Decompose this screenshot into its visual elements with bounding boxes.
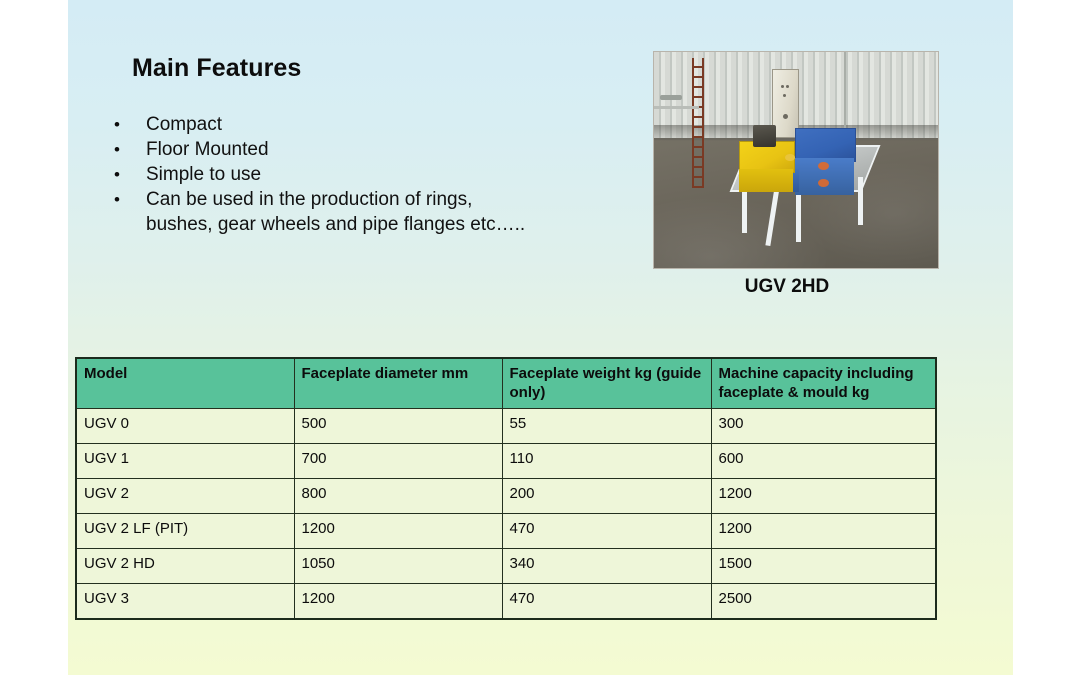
list-item-label: Can be used in the production of rings, … xyxy=(144,187,530,237)
cell-capacity: 2500 xyxy=(711,584,936,620)
table-row: UGV 2 800 200 1200 xyxy=(76,479,936,514)
list-item-label: Compact xyxy=(144,112,222,137)
features-bullet-list: • Compact • Floor Mounted • Simple to us… xyxy=(90,112,530,237)
cell-diameter: 800 xyxy=(294,479,502,514)
cell-model: UGV 1 xyxy=(76,444,294,479)
cell-weight: 470 xyxy=(502,584,711,620)
cell-diameter: 1200 xyxy=(294,514,502,549)
specifications-table: Model Faceplate diameter mm Faceplate we… xyxy=(75,357,937,620)
list-item: • Simple to use xyxy=(90,162,530,187)
product-photo xyxy=(654,52,938,268)
slide-page: Main Features • Compact • Floor Mounted … xyxy=(0,0,1080,675)
list-item: • Can be used in the production of rings… xyxy=(90,187,530,237)
table-row: UGV 1 700 110 600 xyxy=(76,444,936,479)
cell-weight: 200 xyxy=(502,479,711,514)
photo-table-leg xyxy=(858,177,863,225)
photo-decal xyxy=(818,179,829,187)
photo-table-leg xyxy=(796,195,801,243)
cell-weight: 340 xyxy=(502,549,711,584)
cell-diameter: 1200 xyxy=(294,584,502,620)
photo-yellow-hopper-face xyxy=(739,169,793,193)
cell-weight: 110 xyxy=(502,444,711,479)
bullet-icon: • xyxy=(90,137,144,162)
column-header-capacity: Machine capacity including faceplate & m… xyxy=(711,358,936,409)
column-header-weight: Faceplate weight kg (guide only) xyxy=(502,358,711,409)
photo-motor-block xyxy=(753,125,776,147)
photo-cabinet-button xyxy=(781,85,784,88)
table-header-row: Model Faceplate diameter mm Faceplate we… xyxy=(76,358,936,409)
photo-ladder xyxy=(692,58,704,188)
cell-model: UGV 3 xyxy=(76,584,294,620)
slide-canvas: Main Features • Compact • Floor Mounted … xyxy=(68,0,1013,675)
cell-model: UGV 0 xyxy=(76,409,294,444)
photo-cabinet-button xyxy=(783,94,786,97)
bullet-icon: • xyxy=(90,112,144,137)
cell-model: UGV 2 xyxy=(76,479,294,514)
list-item: • Compact xyxy=(90,112,530,137)
list-item-label: Simple to use xyxy=(144,162,261,187)
table-row: UGV 0 500 55 300 xyxy=(76,409,936,444)
bullet-icon: • xyxy=(90,162,144,187)
list-item: • Floor Mounted xyxy=(90,137,530,162)
cell-diameter: 500 xyxy=(294,409,502,444)
bullet-icon: • xyxy=(90,187,144,212)
cell-weight: 470 xyxy=(502,514,711,549)
photo-blue-bin xyxy=(795,128,857,162)
product-photo-block: UGV 2HD xyxy=(654,52,938,298)
photo-decal xyxy=(818,162,829,170)
column-header-model: Model xyxy=(76,358,294,409)
list-item-label: Floor Mounted xyxy=(144,137,269,162)
photo-cabinet-button xyxy=(786,85,789,88)
cell-model: UGV 2 LF (PIT) xyxy=(76,514,294,549)
photo-caption: UGV 2HD xyxy=(654,276,938,298)
cell-capacity: 300 xyxy=(711,409,936,444)
cell-diameter: 1050 xyxy=(294,549,502,584)
cell-capacity: 1200 xyxy=(711,514,936,549)
column-header-diameter: Faceplate diameter mm xyxy=(294,358,502,409)
cell-capacity: 1500 xyxy=(711,549,936,584)
photo-cabinet-button xyxy=(783,114,788,119)
table-row: UGV 3 1200 470 2500 xyxy=(76,584,936,620)
photo-door-seam xyxy=(844,52,846,138)
photo-knob xyxy=(785,154,795,161)
photo-blue-bin-face xyxy=(795,158,855,195)
cell-model: UGV 2 HD xyxy=(76,549,294,584)
cell-capacity: 1200 xyxy=(711,479,936,514)
photo-pipe xyxy=(654,106,699,109)
photo-valve xyxy=(660,95,683,100)
page-title: Main Features xyxy=(132,54,301,83)
table-row: UGV 2 LF (PIT) 1200 470 1200 xyxy=(76,514,936,549)
table-row: UGV 2 HD 1050 340 1500 xyxy=(76,549,936,584)
cell-weight: 55 xyxy=(502,409,711,444)
cell-diameter: 700 xyxy=(294,444,502,479)
cell-capacity: 600 xyxy=(711,444,936,479)
